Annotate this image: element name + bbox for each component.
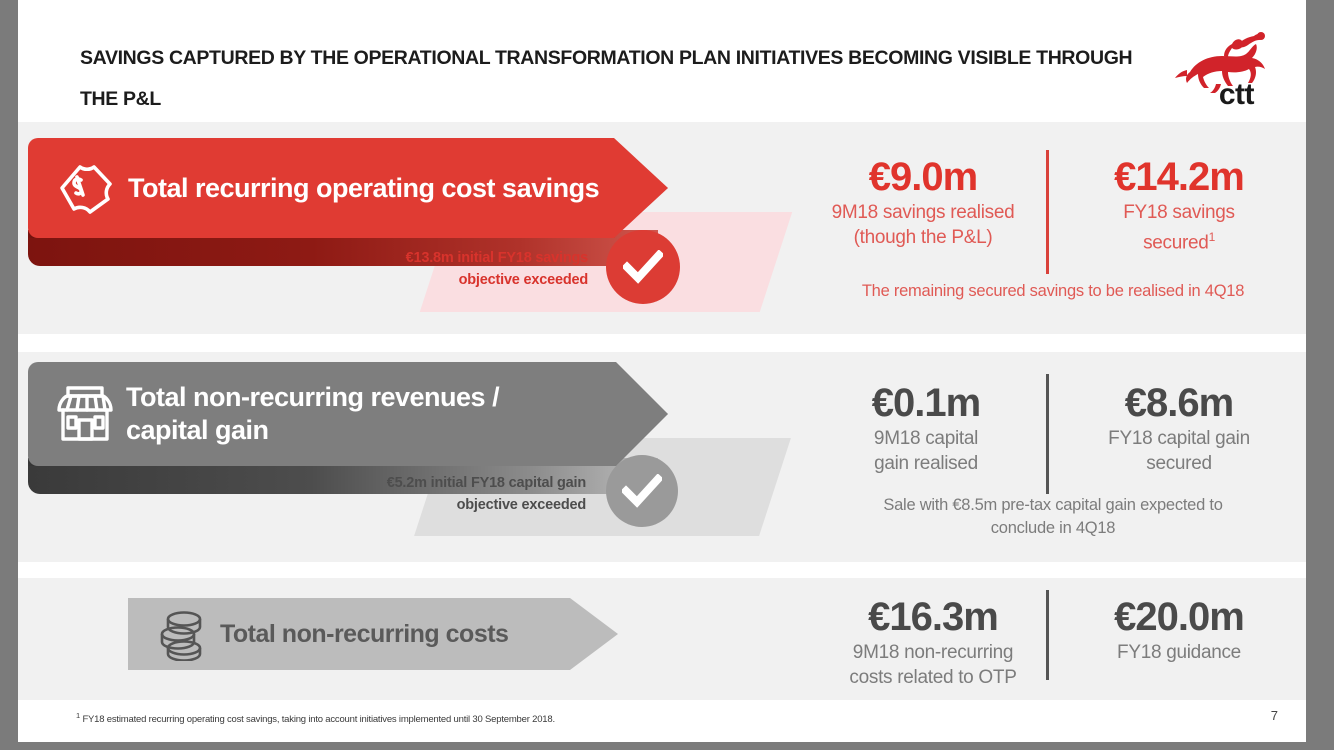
figure-desc-line-2: secured	[1064, 451, 1294, 476]
figure-9m18-non-recurring-costs: €16.3m 9M18 non-recurring costs related …	[818, 594, 1048, 690]
figure-desc-line-1: FY18 capital gain	[1064, 426, 1294, 451]
figure-divider	[1046, 374, 1049, 494]
stacked-coins-icon	[152, 605, 210, 663]
banner-label: Total non-recurring costs	[220, 618, 508, 651]
footnote-marker: 1	[1209, 230, 1215, 244]
figure-desc-line-1: FY18 guidance	[1064, 640, 1294, 665]
check-circle-icon	[606, 230, 680, 304]
figure-desc-line-1: 9M18 savings realised	[808, 200, 1038, 225]
callout-line-1: €5.2m initial FY18 capital gain	[318, 472, 586, 494]
slide-footer: 1 FY18 estimated recurring operating cos…	[18, 700, 1306, 742]
figure-desc-line-2: costs related to OTP	[818, 665, 1048, 690]
figure-9m18-capital-gain: €0.1m 9M18 capital gain realised	[818, 380, 1034, 476]
figure-value: €0.1m	[818, 380, 1034, 426]
banner-label-line-2: capital gain	[126, 415, 269, 445]
figure-value: €9.0m	[808, 154, 1038, 200]
figure-value: €16.3m	[818, 594, 1048, 640]
footnote-marker: 1	[76, 711, 80, 720]
section-recurring-operating-cost-savings: Total recurring operating cost savings €…	[18, 122, 1306, 334]
callout-line-1: €13.8m initial FY18 savings	[348, 247, 588, 269]
figure-value: €14.2m	[1064, 154, 1294, 200]
row-note-savings: The remaining secured savings to be real…	[808, 280, 1298, 303]
figure-divider	[1046, 150, 1049, 274]
figure-fy18-capital-gain-secured: €8.6m FY18 capital gain secured	[1064, 380, 1294, 476]
footnote: 1 FY18 estimated recurring operating cos…	[76, 711, 555, 725]
figure-fy18-guidance: €20.0m FY18 guidance	[1064, 594, 1294, 665]
figure-9m18-savings-realised: €9.0m 9M18 savings realised (though the …	[808, 154, 1038, 250]
figure-value: €8.6m	[1064, 380, 1294, 426]
footnote-text: FY18 estimated recurring operating cost …	[82, 714, 554, 725]
figure-divider	[1046, 590, 1049, 680]
storefront-icon	[50, 379, 120, 449]
callout-line-2: objective exceeded	[318, 494, 586, 516]
figure-fy18-savings-secured: €14.2m FY18 savings secured1	[1064, 154, 1294, 255]
callout-text-capital-gain: €5.2m initial FY18 capital gain objectiv…	[318, 472, 586, 516]
banner-non-recurring-revenues[interactable]: Total non-recurring revenues / capital g…	[28, 362, 668, 466]
check-circle-icon	[606, 455, 678, 527]
banknote-dollar-icon	[50, 152, 122, 224]
row-note-line-2: conclude in 4Q18	[808, 517, 1298, 540]
callout-text-savings: €13.8m initial FY18 savings objective ex…	[348, 247, 588, 291]
figure-desc-line-1: 9M18 non-recurring	[818, 640, 1048, 665]
banner-label: Total recurring operating cost savings	[128, 172, 599, 205]
figure-desc-line-2: (though the P&L)	[808, 225, 1038, 250]
slide-canvas: SAVINGS CAPTURED BY THE OPERATIONAL TRAN…	[0, 0, 1334, 750]
ctt-logo: ctt	[1170, 26, 1280, 112]
page-title: SAVINGS CAPTURED BY THE OPERATIONAL TRAN…	[80, 38, 1160, 120]
figure-desc-line-2: gain realised	[818, 451, 1034, 476]
banner-recurring-operating-cost-savings[interactable]: Total recurring operating cost savings	[28, 138, 668, 238]
banner-non-recurring-costs[interactable]: Total non-recurring costs	[128, 598, 618, 670]
row-note-line-1: Sale with €8.5m pre-tax capital gain exp…	[808, 494, 1298, 517]
figure-desc-line-1: FY18 savings	[1064, 200, 1294, 225]
banner-label-line-1: Total non-recurring revenues /	[126, 382, 499, 412]
ctt-wordmark: ctt	[1219, 80, 1254, 110]
row-note-capital-gain: Sale with €8.5m pre-tax capital gain exp…	[808, 494, 1298, 540]
figure-desc-text: secured	[1143, 232, 1209, 253]
banner-label: Total non-recurring revenues / capital g…	[126, 381, 499, 447]
section-non-recurring-revenues-capital-gain: Total non-recurring revenues / capital g…	[18, 352, 1306, 562]
slide-header: SAVINGS CAPTURED BY THE OPERATIONAL TRAN…	[18, 0, 1306, 122]
section-non-recurring-costs: Total non-recurring costs €16.3m 9M18 no…	[18, 578, 1306, 700]
callout-line-2: objective exceeded	[348, 269, 588, 291]
figure-desc-line-1: 9M18 capital	[818, 426, 1034, 451]
slide-frame: SAVINGS CAPTURED BY THE OPERATIONAL TRAN…	[18, 0, 1306, 742]
figure-value: €20.0m	[1064, 594, 1294, 640]
page-number: 7	[1271, 708, 1278, 723]
figure-desc-line-2: secured1	[1064, 225, 1294, 255]
